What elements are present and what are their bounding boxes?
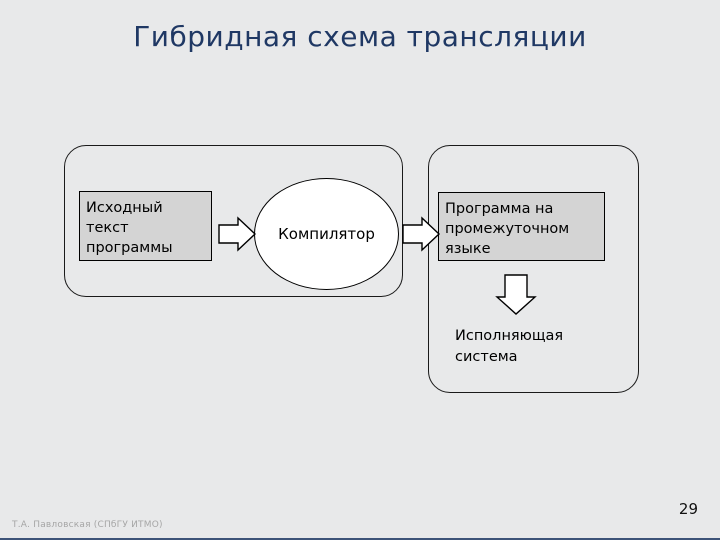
node-source-program-line-2: текст [86,218,211,238]
node-intermediate-program[interactable]: Программа на промежуточном языке [438,192,605,261]
node-compiler-label: Компилятор [278,225,375,243]
footer-credit: Т.А. Павловская (СПбГУ ИТМО) [12,520,163,530]
node-compiler[interactable]: Компилятор [254,178,399,290]
node-intermediate-program-line-2: промежуточном [445,219,604,239]
page-number: 29 [679,500,698,518]
slide-canvas: Гибридная схема трансляции Исходный текс… [0,0,720,540]
node-source-program-line-1: Исходный [86,198,211,218]
node-source-program[interactable]: Исходный текст программы [79,191,212,261]
node-intermediate-program-line-3: языке [445,239,604,259]
node-runtime-system-line-2: система [455,347,625,368]
node-runtime-system-line-1: Исполняющая [455,326,625,347]
node-intermediate-program-line-1: Программа на [445,199,604,219]
translation-scheme-diagram: Исходный текст программы Компилятор Прог… [0,0,720,540]
node-source-program-line-3: программы [86,238,211,258]
node-runtime-system: Исполняющая система [455,326,625,368]
